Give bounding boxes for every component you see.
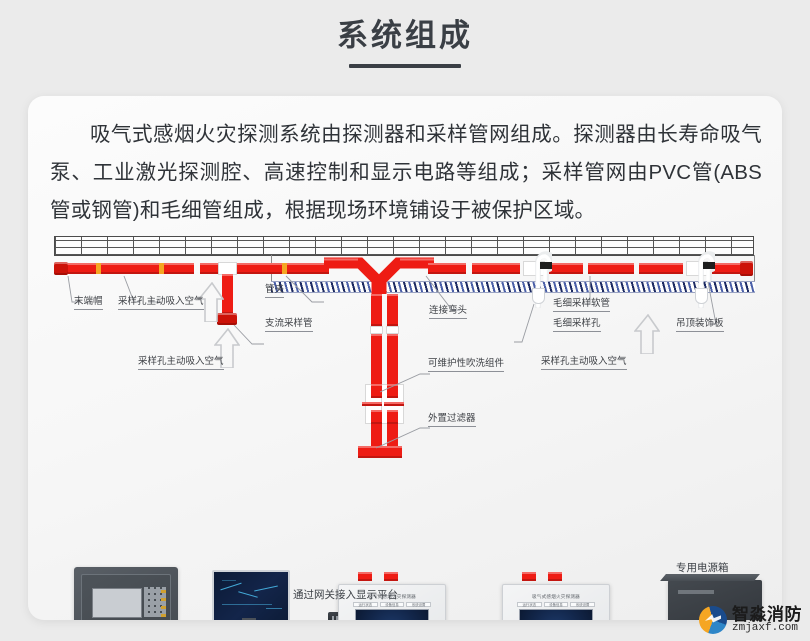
detector-tabs[interactable]: 运行状态 设备信息 系统设置 bbox=[353, 602, 431, 607]
watermark-url: zmjaxf.com bbox=[732, 623, 802, 635]
panel-screen bbox=[92, 588, 142, 618]
page-title: 系统组成 bbox=[0, 16, 810, 56]
panel-indicator-leds bbox=[161, 587, 166, 617]
label-capillary-hole: 毛细采样孔 bbox=[553, 318, 601, 332]
watermark-brand: 智淼消防 bbox=[732, 606, 802, 624]
detector-title: 吸气式感烟火灾探测器 bbox=[503, 594, 609, 600]
detector-screen: 吸气式感烟火灾探测器 bbox=[519, 609, 593, 620]
label-pipe-clamp: 管夹 bbox=[265, 284, 284, 298]
label-sampling-hole-mid-left: 采样孔主动吸入空气 bbox=[138, 356, 224, 370]
label-branch-sampling-pipe: 支流采样管 bbox=[265, 318, 313, 332]
detector-inlet-stub bbox=[358, 572, 372, 581]
detector-screen: 吸气式感烟火灾探测器 bbox=[355, 609, 429, 620]
detector-inlet-stub bbox=[548, 572, 562, 581]
leader-lines bbox=[28, 232, 782, 620]
label-sampling-hole-left: 采样孔主动吸入空气 bbox=[118, 296, 204, 310]
detector-tabs[interactable]: 运行状态 设备信息 系统设置 bbox=[517, 602, 595, 607]
monitor-display[interactable] bbox=[212, 570, 290, 620]
label-sampling-hole-mid-right: 采样孔主动吸入空气 bbox=[541, 356, 627, 370]
watermark-text: 智淼消防 zmjaxf.com bbox=[732, 606, 802, 635]
detector-tab-info[interactable]: 设备信息 bbox=[380, 602, 405, 607]
panel-body bbox=[81, 574, 171, 620]
power-cabinet-top bbox=[660, 574, 760, 581]
title-block: 系统组成 bbox=[0, 16, 810, 68]
label-external-filter: 外置过滤器 bbox=[428, 413, 476, 427]
monitor-stand bbox=[242, 618, 256, 620]
detector-tab-info[interactable]: 设备信息 bbox=[544, 602, 569, 607]
watermark: 智淼消防 zmjaxf.com bbox=[699, 606, 802, 635]
detector-inlet-stub bbox=[384, 572, 398, 581]
detector-tab-settings[interactable]: 系统设置 bbox=[406, 602, 431, 607]
label-capillary-hose: 毛细采样软管 bbox=[553, 298, 610, 312]
system-diagram: 末端帽 采样孔主动吸入空气 管夹 支流采样管 连接弯头 毛细采样软管 毛细采样孔… bbox=[28, 232, 782, 620]
detector-tab-settings[interactable]: 系统设置 bbox=[570, 602, 595, 607]
intro-paragraph: 吸气式感烟火灾探测系统由探测器和采样管网组成。探测器由长寿命吸气泵、工业激光探测… bbox=[50, 116, 762, 230]
label-maintainable-blow-unit: 可维护性吹洗组件 bbox=[428, 358, 504, 372]
detector-tab-status[interactable]: 运行状态 bbox=[517, 602, 542, 607]
detector-inlet-stub bbox=[522, 572, 536, 581]
label-end-cap: 末端帽 bbox=[74, 296, 103, 310]
power-cabinet-model-label bbox=[678, 590, 714, 594]
aspirating-detector-right[interactable]: 吸气式感烟火灾探测器 运行状态 设备信息 系统设置 吸气式感烟火灾探测器 南京三… bbox=[502, 584, 610, 620]
label-gateway-display-platform: 通过网关接入显示平台 bbox=[293, 589, 373, 602]
label-connecting-elbow: 连接弯头 bbox=[429, 305, 467, 319]
label-power-cabinet: 专用电源箱 bbox=[676, 562, 729, 575]
title-underline bbox=[349, 64, 461, 68]
fire-alarm-control-panel[interactable] bbox=[74, 567, 178, 620]
detector-tab-status[interactable]: 运行状态 bbox=[353, 602, 378, 607]
content-card: 吸气式感烟火灾探测系统由探测器和采样管网组成。探测器由长寿命吸气泵、工业激光探测… bbox=[28, 96, 782, 620]
brand-logo-icon bbox=[699, 606, 727, 634]
label-ceiling-panel: 吊顶装饰板 bbox=[676, 318, 724, 332]
